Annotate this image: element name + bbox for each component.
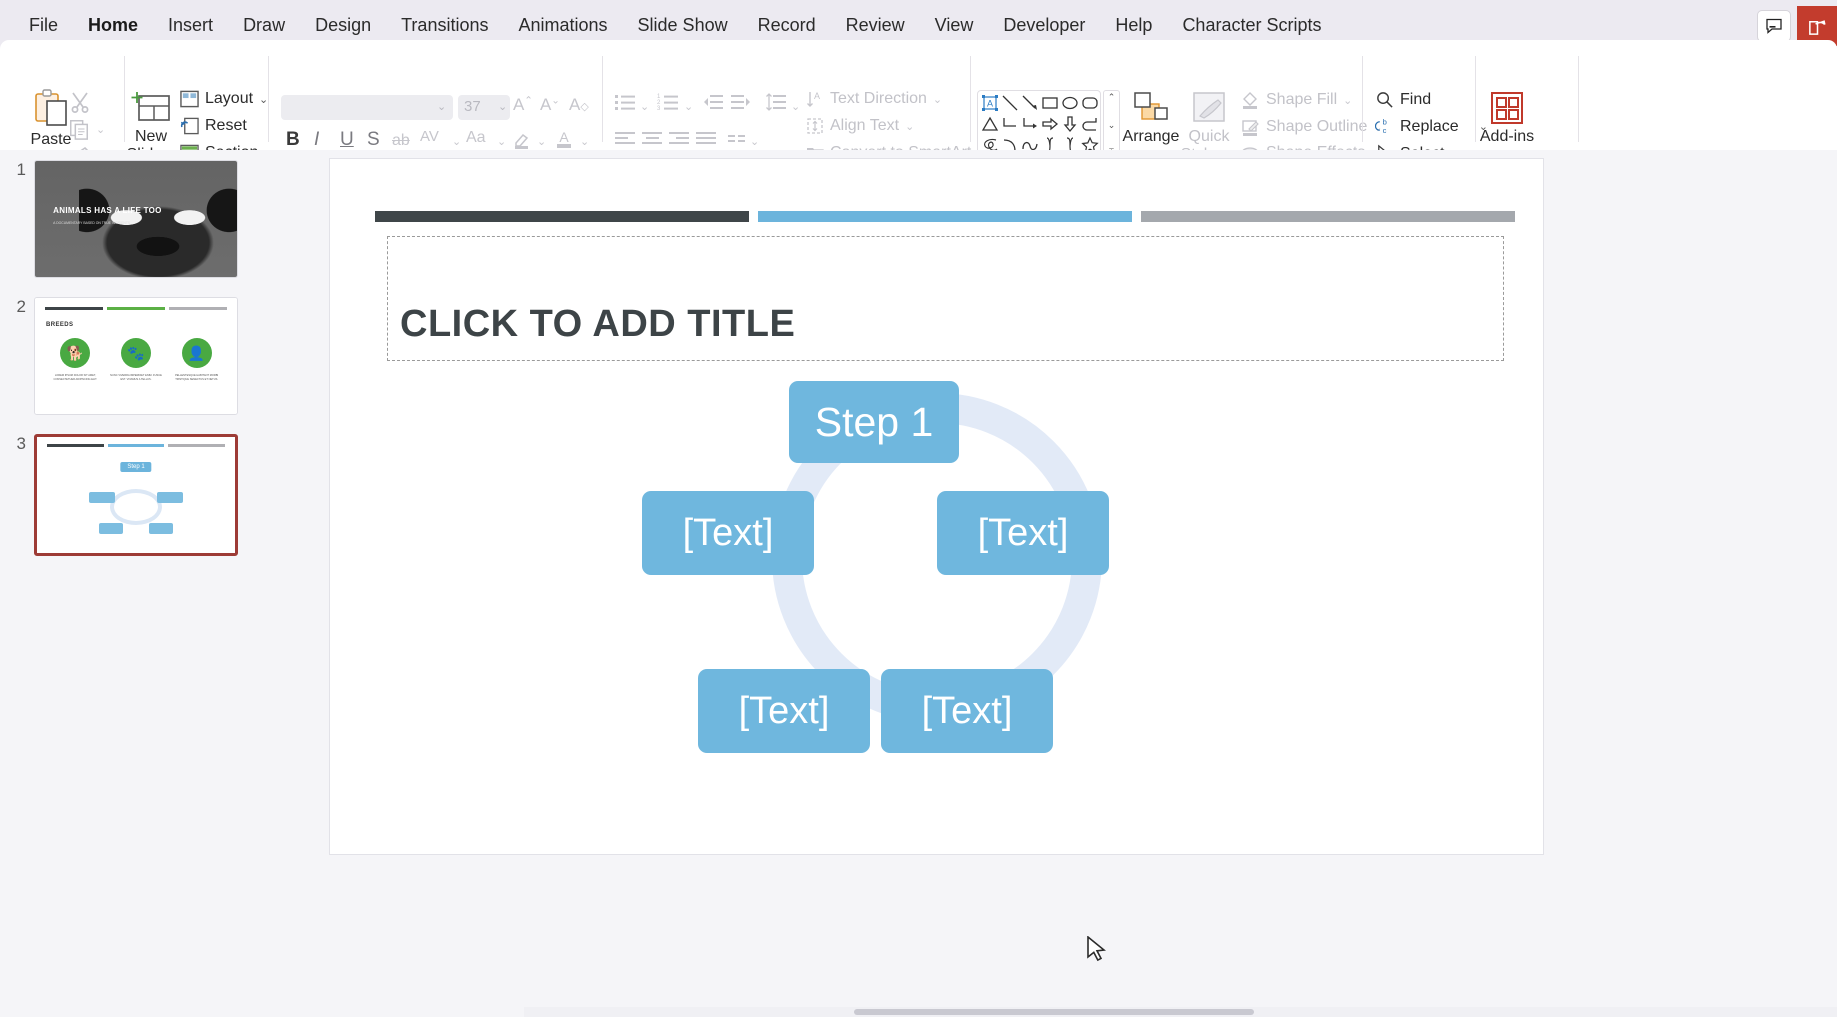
deco-bar-2 (107, 307, 165, 310)
menu-tab-draw[interactable]: Draw (228, 11, 300, 42)
font-name-chevron-down-icon[interactable]: ⌄ (437, 100, 446, 113)
group-separator (1475, 56, 1476, 142)
diagram-node-right[interactable]: [Text] (937, 491, 1109, 575)
shape-arrow-line-icon[interactable] (1020, 93, 1040, 113)
slide2-heading: BREEDS (46, 322, 73, 328)
slide1-preview: ANIMALS HAS A LIFE TOO A DOCUMENTARY BAS… (35, 161, 237, 277)
text-direction-chevron-down-icon[interactable]: ⌄ (933, 93, 942, 106)
find-label: Find (1400, 91, 1431, 109)
menu-tab-help-label: Help (1115, 15, 1152, 35)
character-spacing-label: AV (420, 128, 439, 145)
shape-fill-chevron-down-icon[interactable]: ⌄ (1343, 94, 1352, 107)
bullets-button[interactable] (614, 92, 636, 118)
line-spacing-chevron-down-icon[interactable]: ⌄ (791, 100, 800, 113)
diagram-node-left-label: [Text] (683, 512, 774, 555)
menu-tab-review[interactable]: Review (831, 11, 920, 42)
group-separator (1362, 56, 1363, 142)
diagram-node-step-1[interactable]: Step 1 (789, 381, 959, 463)
menu-tab-record[interactable]: Record (743, 11, 831, 42)
slide-thumbnail-3[interactable]: 3 Step 1 (0, 434, 238, 556)
line-spacing-button[interactable] (765, 92, 787, 118)
menu-tab-character-scripts[interactable]: Character Scripts (1167, 11, 1336, 42)
gallery-scroll-down-icon[interactable]: ⌄ (1108, 120, 1116, 131)
cut-button[interactable] (68, 90, 92, 119)
replace-label: Replace (1400, 118, 1459, 136)
share-icon (1807, 16, 1828, 37)
slide3-preview: Step 1 (37, 437, 235, 553)
layout-label: Layout (205, 90, 253, 108)
reset-button[interactable]: Reset (180, 117, 247, 135)
title-placeholder-text: CLICK TO ADD TITLE (400, 303, 795, 346)
increase-font-size-button[interactable]: A⌃ (513, 95, 533, 115)
deco-bar-1 (47, 444, 104, 447)
slide2-caption-2: NUNC VIVERRA IMPERDIET ENIM. FUSCE EST. … (110, 374, 162, 382)
add-ins-label: Add-ins (1480, 128, 1534, 146)
bullets-chevron-down-icon[interactable]: ⌄ (640, 100, 649, 113)
slide2-caption-3: PELLENTESQUE HABITANT MORBI TRISTIQUE SE… (171, 374, 223, 382)
diagram-node-bottom-right[interactable]: [Text] (881, 669, 1053, 753)
menu-tab-developer[interactable]: Developer (988, 11, 1100, 42)
shape-outline-icon (1240, 117, 1260, 137)
menu-tab-slide-show[interactable]: Slide Show (623, 11, 743, 42)
font-name-input[interactable] (281, 95, 453, 120)
align-text-icon (806, 117, 824, 135)
text-direction-label: Text Direction (830, 90, 927, 108)
slide3-node-left (89, 492, 115, 503)
cycle-ring (110, 489, 162, 525)
arrange-label: Arrange (1123, 128, 1180, 146)
scissors-icon (68, 90, 92, 114)
text-direction-icon: A (806, 90, 824, 108)
new-slide-icon (130, 88, 172, 128)
paw-icon: 🐾 (121, 338, 151, 368)
paste-icon (31, 88, 71, 130)
slide3-step-label: Step 1 (120, 462, 151, 472)
menu-tab-transitions-label: Transitions (401, 15, 488, 35)
search-icon (1375, 90, 1394, 109)
menu-tab-design-label: Design (315, 15, 371, 35)
shape-text-box-icon[interactable]: A (980, 93, 1000, 113)
increase-indent-button[interactable] (730, 92, 752, 118)
diagram-node-right-label: [Text] (978, 512, 1069, 555)
slide2-captions: LOREM IPSUM DOLOR SIT AMET, CONSECTETUER… (45, 374, 227, 382)
numbering-button[interactable]: 1 2 3 (657, 92, 679, 118)
shape-triangle-icon[interactable] (980, 114, 1000, 134)
arrange-icon (1131, 90, 1171, 128)
menu-tab-review-label: Review (846, 15, 905, 35)
numbered-list-icon: 1 2 3 (657, 92, 679, 112)
quick-styles-label-line1: Quick (1189, 128, 1230, 146)
align-center-icon (641, 130, 663, 148)
slide2-deco-bars (45, 307, 227, 310)
align-right-icon (668, 130, 690, 148)
replace-icon: b c (1375, 117, 1394, 136)
shape-line-icon[interactable] (1000, 93, 1020, 113)
shape-elbow-connector-icon[interactable] (1000, 114, 1020, 134)
shape-rectangle-icon[interactable] (1040, 93, 1060, 113)
person-icon: 👤 (182, 338, 212, 368)
slide-number-2: 2 (0, 297, 26, 317)
deco-bar-1 (45, 307, 103, 310)
slide3-deco-bars (47, 444, 225, 447)
change-case-button[interactable]: Aa (466, 129, 486, 147)
shape-fill-label: Shape Fill (1266, 91, 1337, 109)
decrease-indent-icon (702, 92, 724, 112)
title-placeholder[interactable]: CLICK TO ADD TITLE (387, 236, 1504, 361)
slide-deco-bars (375, 211, 1515, 222)
menu-tab-help[interactable]: Help (1100, 11, 1167, 42)
text-direction-button[interactable]: A Text Direction ⌄ (806, 90, 942, 108)
increase-indent-icon (730, 92, 752, 112)
align-text-chevron-down-icon[interactable]: ⌄ (905, 120, 914, 133)
menu-tab-home-label: Home (88, 15, 138, 35)
shape-fill-icon (1240, 90, 1260, 110)
quick-styles-icon (1190, 90, 1228, 128)
diagram-node-bottom-left-label: [Text] (739, 690, 830, 733)
svg-text:A: A (814, 91, 820, 101)
scrollbar-thumb[interactable] (854, 1009, 1254, 1015)
horizontal-scrollbar[interactable] (524, 1007, 1837, 1017)
shape-outline-label: Shape Outline (1266, 118, 1367, 136)
shape-right-arrow-icon[interactable] (1040, 114, 1060, 134)
copy-chevron-down-icon[interactable]: ⌄ (96, 123, 105, 136)
deco-bar-3 (168, 444, 225, 447)
shape-bent-arrow-icon[interactable] (1080, 114, 1100, 134)
menu-tab-draw-label: Draw (243, 15, 285, 35)
slide3-node-bottom-left (99, 523, 123, 534)
comments-button[interactable] (1757, 10, 1791, 42)
character-spacing-button[interactable]: AV (420, 128, 439, 145)
slide2-caption-1: LOREM IPSUM DOLOR SIT AMET, CONSECTETUER… (49, 374, 101, 382)
line-spacing-icon (765, 92, 787, 112)
slide2-icon-row: 🐕 🐾 👤 (45, 338, 227, 368)
deco-bar-grey (1141, 211, 1515, 222)
slide-number-3: 3 (0, 434, 26, 454)
add-ins-icon (1488, 90, 1526, 128)
deco-bar-blue (758, 211, 1132, 222)
replace-button[interactable]: b c Replace ⌄ (1375, 117, 1488, 136)
menu-tab-view[interactable]: View (920, 11, 989, 42)
svg-text:3: 3 (657, 106, 661, 112)
menu-tab-transitions[interactable]: Transitions (386, 11, 503, 42)
menu-tab-animations-label: Animations (518, 15, 607, 35)
reset-icon (180, 117, 199, 135)
slide1-subtitle: A DOCUMENTARY BASED ON TRUE INCIDENTS (53, 221, 130, 225)
slide-thumb-body-1[interactable]: ANIMALS HAS A LIFE TOO A DOCUMENTARY BAS… (34, 160, 238, 278)
slide-editing-area[interactable]: CLICK TO ADD TITLE Step 1 [Text] [Text] … (262, 150, 1837, 1017)
align-left-icon (614, 130, 636, 148)
group-separator (1578, 56, 1579, 142)
dog-icon: 🐕 (60, 338, 90, 368)
slide3-node-right (157, 492, 183, 503)
slide3-node-bottom-right (149, 523, 173, 534)
deco-bar-3 (169, 307, 227, 310)
deco-bar-dark (375, 211, 749, 222)
current-slide[interactable]: CLICK TO ADD TITLE Step 1 [Text] [Text] … (330, 159, 1543, 854)
shape-oval-icon[interactable] (1060, 93, 1080, 113)
menu-tab-file[interactable]: File (14, 11, 73, 42)
menu-tab-view-label: View (935, 15, 974, 35)
decrease-font-size-button[interactable]: A⌄ (540, 95, 560, 115)
menu-tab-file-label: File (29, 15, 58, 35)
layout-chevron-down-icon[interactable]: ⌄ (259, 93, 268, 106)
dog-photo (79, 187, 237, 277)
menu-bar: File Home Insert Draw Design Transitions… (14, 11, 1336, 42)
shape-fill-button[interactable]: Shape Fill ⌄ (1240, 90, 1352, 110)
svg-text:c: c (1383, 126, 1387, 135)
align-text-label: Align Text (830, 117, 899, 135)
menu-tab-home[interactable]: Home (73, 11, 153, 42)
deco-bar-2 (108, 444, 165, 447)
align-text-button[interactable]: Align Text ⌄ (806, 117, 914, 135)
slide-thumb-body-2[interactable]: BREEDS 🐕 🐾 👤 LOREM IPSUM DOLOR SIT AMET,… (34, 297, 238, 415)
copy-icon (68, 118, 90, 140)
shape-down-arrow-icon[interactable] (1060, 114, 1080, 134)
slide-thumbnail-panel[interactable]: 1 ANIMALS HAS A LIFE TOO A DOCUMENTARY B… (0, 150, 262, 1017)
numbering-chevron-down-icon[interactable]: ⌄ (684, 100, 693, 113)
group-separator (268, 56, 269, 142)
ribbon: Paste ⌄ ⌄ Clipboard ◥ New (0, 40, 1837, 166)
gallery-scroll-up-icon[interactable]: ⌃ (1108, 92, 1116, 103)
layout-button[interactable]: Layout ⌄ (180, 90, 268, 108)
menu-tab-slide-show-label: Slide Show (638, 15, 728, 35)
menu-tab-design[interactable]: Design (300, 11, 386, 42)
decrease-indent-button[interactable] (702, 92, 724, 118)
slide1-title: ANIMALS HAS A LIFE TOO (53, 206, 162, 215)
slide-thumb-body-3[interactable]: Step 1 (34, 434, 238, 556)
group-separator (602, 56, 603, 142)
menu-tab-animations[interactable]: Animations (503, 11, 622, 42)
diagram-node-bottom-left[interactable]: [Text] (698, 669, 870, 753)
columns-icon (727, 130, 747, 148)
diagram-node-bottom-right-label: [Text] (922, 690, 1013, 733)
font-size-chevron-down-icon[interactable]: ⌄ (498, 100, 507, 113)
comment-icon (1765, 17, 1783, 35)
menu-tab-insert[interactable]: Insert (153, 11, 228, 42)
menu-tab-character-scripts-label: Character Scripts (1182, 15, 1321, 35)
bullet-list-icon (614, 92, 636, 112)
menu-tab-insert-label: Insert (168, 15, 213, 35)
slide2-preview: BREEDS 🐕 🐾 👤 LOREM IPSUM DOLOR SIT AMET,… (35, 298, 237, 414)
smartart-cycle-diagram[interactable]: Step 1 [Text] [Text] [Text] [Text] (330, 379, 1543, 849)
font-color-chevron-down-icon[interactable]: ⌄ (580, 135, 589, 148)
svg-text:A: A (559, 129, 569, 145)
shape-elbow-arrow-icon[interactable] (1020, 114, 1040, 134)
slide-thumbnail-1[interactable]: 1 ANIMALS HAS A LIFE TOO A DOCUMENTARY B… (0, 160, 238, 278)
menu-tab-record-label: Record (758, 15, 816, 35)
mouse-cursor (1086, 936, 1108, 966)
slide-number-1: 1 (0, 160, 26, 180)
find-button[interactable]: Find (1375, 90, 1431, 109)
slide-thumbnail-2[interactable]: 2 BREEDS 🐕 🐾 👤 LOREM IPSUM DOLOR SIT AME… (0, 297, 238, 415)
menu-tab-developer-label: Developer (1003, 15, 1085, 35)
clear-formatting-button[interactable]: A◇ (569, 95, 589, 115)
diagram-node-step-1-label: Step 1 (815, 399, 934, 446)
shape-rounded-rectangle-icon[interactable] (1080, 93, 1100, 113)
diagram-node-left[interactable]: [Text] (642, 491, 814, 575)
add-ins-button[interactable]: Add-ins (1478, 90, 1536, 146)
new-slide-label-line1: New (135, 128, 167, 146)
group-separator (970, 56, 971, 142)
reset-label: Reset (205, 117, 247, 135)
svg-text:A: A (987, 99, 993, 109)
layout-icon (180, 90, 199, 108)
justify-icon (695, 130, 717, 148)
copy-button[interactable]: ⌄ (68, 118, 105, 140)
